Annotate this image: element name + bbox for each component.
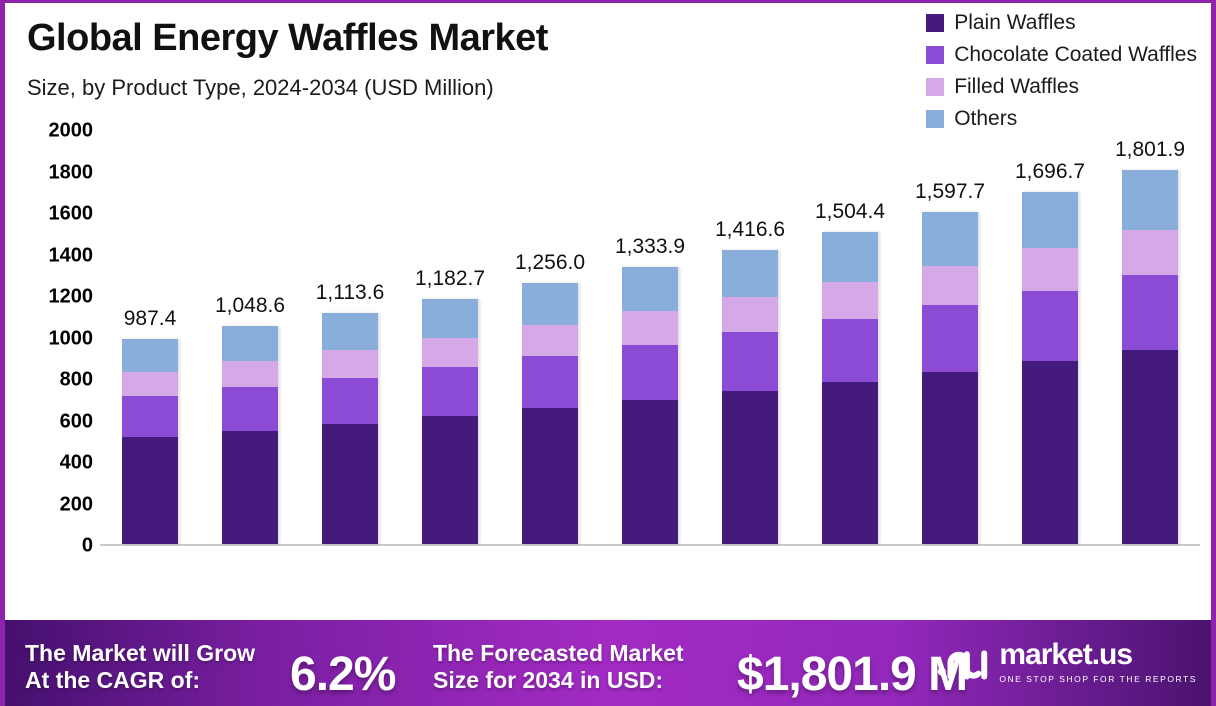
legend-label: Others xyxy=(954,107,1017,131)
bar-segment[interactable] xyxy=(222,387,278,431)
bar-segment[interactable] xyxy=(622,267,678,311)
y-axis-tick-label: 800 xyxy=(3,369,93,392)
bar-segment[interactable] xyxy=(622,400,678,544)
bar-stack[interactable] xyxy=(122,339,178,544)
y-axis-tick-label: 400 xyxy=(3,452,93,475)
bar-column[interactable]: 1,416.6 xyxy=(722,129,778,544)
bar-segment[interactable] xyxy=(1022,192,1078,248)
bar-column[interactable]: 1,504.4 xyxy=(822,129,878,544)
bar-segment[interactable] xyxy=(122,372,178,397)
bar-segment[interactable] xyxy=(522,356,578,408)
bar-segment[interactable] xyxy=(722,297,778,332)
bar-stack[interactable] xyxy=(822,232,878,544)
bar-column[interactable]: 1,256.0 xyxy=(522,129,578,544)
bar-segment[interactable] xyxy=(822,282,878,319)
y-axis-tick-label: 1400 xyxy=(3,244,93,267)
bar-stack[interactable] xyxy=(1022,192,1078,544)
bar-column[interactable]: 1,597.7 xyxy=(922,129,978,544)
bar-segment[interactable] xyxy=(922,372,978,544)
bar-segment[interactable] xyxy=(222,326,278,361)
bar-stack[interactable] xyxy=(922,212,978,544)
y-axis-tick-label: 200 xyxy=(3,493,93,516)
bar-segment[interactable] xyxy=(322,350,378,378)
bar-column[interactable]: 987.4 xyxy=(122,129,178,544)
bar-segment[interactable] xyxy=(922,305,978,371)
bar-segment[interactable] xyxy=(122,339,178,372)
bar-segment[interactable] xyxy=(522,283,578,325)
bar-segment[interactable] xyxy=(822,382,878,544)
bar-segment[interactable] xyxy=(322,313,378,350)
bar-segment[interactable] xyxy=(1122,230,1178,275)
bar-column[interactable]: 1,113.6 xyxy=(322,129,378,544)
bar-segment[interactable] xyxy=(422,416,478,544)
bar-total-label: 1,597.7 xyxy=(915,180,985,204)
cagr-caption-line2: At the CAGR of: xyxy=(25,667,200,693)
bar-segment[interactable] xyxy=(322,424,378,544)
bar-stack[interactable] xyxy=(1122,170,1178,544)
bar-segment[interactable] xyxy=(122,437,178,544)
bar-stack[interactable] xyxy=(422,299,478,544)
bar-column[interactable]: 1,182.7 xyxy=(422,129,478,544)
bar-stack[interactable] xyxy=(322,313,378,544)
bar-stack[interactable] xyxy=(622,267,678,544)
bar-total-label: 1,696.7 xyxy=(1015,160,1085,184)
y-axis-tick-label: 0 xyxy=(3,535,93,558)
cagr-value: 6.2% xyxy=(290,647,395,702)
bar-segment[interactable] xyxy=(822,232,878,282)
forecast-caption: The Forecasted Market Size for 2034 in U… xyxy=(433,640,684,693)
bar-group: 987.41,048.61,113.61,182.71,256.01,333.9… xyxy=(100,129,1200,544)
bar-segment[interactable] xyxy=(922,266,978,306)
legend-item[interactable]: Plain Waffles xyxy=(926,11,1075,35)
legend-label: Plain Waffles xyxy=(954,11,1075,35)
bar-stack[interactable] xyxy=(222,326,278,544)
legend-swatch-icon xyxy=(926,110,944,128)
forecast-caption-line2: Size for 2034 in USD: xyxy=(433,667,663,693)
bar-segment[interactable] xyxy=(922,212,978,265)
bar-segment[interactable] xyxy=(122,396,178,437)
plot-area: 2000180016001400120010008006004002000 98… xyxy=(100,129,1200,546)
bar-segment[interactable] xyxy=(1122,170,1178,230)
bar-segment[interactable] xyxy=(1022,361,1078,544)
y-axis-tick-label: 1000 xyxy=(3,327,93,350)
footer-banner: The Market will Grow At the CAGR of: 6.2… xyxy=(5,620,1211,706)
bar-total-label: 1,333.9 xyxy=(615,235,685,259)
bar-segment[interactable] xyxy=(1022,291,1078,361)
y-axis-tick-label: 1200 xyxy=(3,286,93,309)
legend-item[interactable]: Others xyxy=(926,107,1017,131)
legend-swatch-icon xyxy=(926,14,944,32)
cagr-caption-line1: The Market will Grow xyxy=(25,640,255,666)
market-us-logo[interactable]: market.us ONE STOP SHOP FOR THE REPORTS xyxy=(936,640,1197,684)
bar-segment[interactable] xyxy=(522,408,578,544)
bar-total-label: 1,182.7 xyxy=(415,267,485,291)
forecast-caption-line1: The Forecasted Market xyxy=(433,640,684,666)
legend-label: Chocolate Coated Waffles xyxy=(954,43,1197,67)
bar-column[interactable]: 1,048.6 xyxy=(222,129,278,544)
bar-total-label: 1,048.6 xyxy=(215,294,285,318)
logo-tagline: ONE STOP SHOP FOR THE REPORTS xyxy=(999,674,1197,684)
legend-label: Filled Waffles xyxy=(954,75,1079,99)
logo-text: market.us ONE STOP SHOP FOR THE REPORTS xyxy=(999,640,1197,684)
bar-total-label: 1,256.0 xyxy=(515,251,585,275)
bar-segment[interactable] xyxy=(422,338,478,367)
bar-column[interactable]: 1,333.9 xyxy=(622,129,678,544)
bar-segment[interactable] xyxy=(422,367,478,416)
forecast-value: $1,801.9 M xyxy=(737,647,967,702)
chart-legend: Plain WafflesChocolate Coated WafflesFil… xyxy=(926,11,1197,131)
bar-segment[interactable] xyxy=(1022,248,1078,290)
bar-segment[interactable] xyxy=(222,361,278,387)
y-axis-tick-label: 600 xyxy=(3,410,93,433)
bar-total-label: 1,113.6 xyxy=(316,281,385,305)
x-axis-line xyxy=(100,544,1200,546)
bar-segment[interactable] xyxy=(722,250,778,297)
bar-segment[interactable] xyxy=(222,431,278,544)
bar-total-label: 987.4 xyxy=(124,307,177,331)
bar-segment[interactable] xyxy=(622,345,678,400)
bar-segment[interactable] xyxy=(1122,350,1178,544)
y-axis-tick-label: 1600 xyxy=(3,203,93,226)
cagr-caption: The Market will Grow At the CAGR of: xyxy=(25,640,255,693)
bar-segment[interactable] xyxy=(822,319,878,381)
bar-column[interactable]: 1,801.9 xyxy=(1122,129,1178,544)
market-us-logo-icon xyxy=(936,641,990,683)
logo-name: market.us xyxy=(999,640,1197,670)
legend-swatch-icon xyxy=(926,46,944,64)
bar-total-label: 1,801.9 xyxy=(1115,138,1185,162)
bar-segment[interactable] xyxy=(1122,275,1178,350)
legend-item[interactable]: Chocolate Coated Waffles xyxy=(926,43,1197,67)
y-axis-tick-label: 1800 xyxy=(3,161,93,184)
bar-total-label: 1,416.6 xyxy=(715,218,785,242)
bar-segment[interactable] xyxy=(422,299,478,338)
bar-segment[interactable] xyxy=(722,332,778,391)
chart-page: Global Energy Waffles Market Size, by Pr… xyxy=(0,0,1216,706)
bar-total-label: 1,504.4 xyxy=(815,200,885,224)
y-axis-tick-label: 2000 xyxy=(3,120,93,143)
page-subtitle: Size, by Product Type, 2024-2034 (USD Mi… xyxy=(27,75,494,101)
legend-item[interactable]: Filled Waffles xyxy=(926,75,1079,99)
bar-segment[interactable] xyxy=(522,325,578,356)
bar-column[interactable]: 1,696.7 xyxy=(1022,129,1078,544)
bar-segment[interactable] xyxy=(322,378,378,424)
page-title: Global Energy Waffles Market xyxy=(27,17,548,60)
bar-segment[interactable] xyxy=(622,311,678,344)
legend-swatch-icon xyxy=(926,78,944,96)
bar-stack[interactable] xyxy=(722,250,778,544)
bar-segment[interactable] xyxy=(722,391,778,544)
bar-stack[interactable] xyxy=(522,283,578,544)
